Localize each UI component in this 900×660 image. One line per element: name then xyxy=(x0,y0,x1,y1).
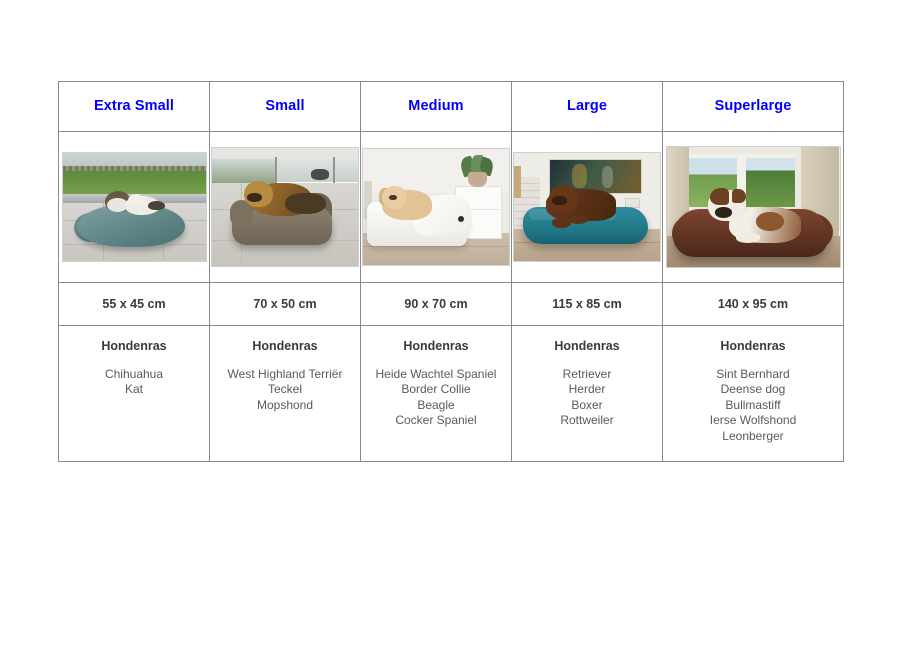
product-photo-small[interactable] xyxy=(211,147,359,267)
breed-item: West Highland Terriër xyxy=(228,367,343,383)
breeds-cell-superlarge: Hondenras Sint BernhardDeense dogBullmas… xyxy=(663,326,844,462)
breed-item: Heide Wachtel Spaniel xyxy=(376,367,497,383)
breeds-list-large: RetrieverHerderBoxerRottweiler xyxy=(560,367,613,429)
dimensions-cell-large: 115 x 85 cm xyxy=(512,283,663,326)
breeds-cell-large: Hondenras RetrieverHerderBoxerRottweiler xyxy=(512,326,663,462)
breeds-title-large: Hondenras xyxy=(554,340,619,353)
dimensions-cell-extra-small: 55 x 45 cm xyxy=(59,283,210,326)
breeds-list-superlarge: Sint BernhardDeense dogBullmastiffIerse … xyxy=(710,367,797,445)
dimensions-large: 115 x 85 cm xyxy=(512,297,662,311)
page: Extra Small Small Medium Large Superlarg… xyxy=(0,0,900,660)
breed-item: Rottweiler xyxy=(560,413,613,429)
breeds-title-extra-small: Hondenras xyxy=(101,340,166,353)
breeds-cell-small: Hondenras West Highland TerriërTeckelMop… xyxy=(210,326,361,462)
photo-wrap-extra-small xyxy=(59,132,209,282)
photo-cell-extra-small[interactable] xyxy=(59,132,210,283)
breed-item: Retriever xyxy=(560,367,613,383)
header-cell-superlarge[interactable]: Superlarge xyxy=(663,82,844,132)
breed-item: Deense dog xyxy=(710,382,797,398)
breed-item: Boxer xyxy=(560,398,613,414)
photo-wrap-small xyxy=(210,132,360,282)
header-cell-medium[interactable]: Medium xyxy=(361,82,512,132)
breed-item: Border Collie xyxy=(376,382,497,398)
breeds-list-extra-small: ChihuahuaKat xyxy=(105,367,163,398)
product-photo-extra-small[interactable] xyxy=(62,152,207,262)
breed-item: Teckel xyxy=(228,382,343,398)
size-name-large: Large xyxy=(512,99,662,114)
breeds-title-small: Hondenras xyxy=(252,340,317,353)
size-name-superlarge: Superlarge xyxy=(663,99,843,114)
product-photo-medium[interactable] xyxy=(362,148,510,266)
photo-cell-small[interactable] xyxy=(210,132,361,283)
dimensions-medium: 90 x 70 cm xyxy=(361,297,511,311)
product-photo-superlarge[interactable] xyxy=(666,146,841,268)
breed-item: Herder xyxy=(560,382,613,398)
breeds-cell-medium: Hondenras Heide Wachtel SpanielBorder Co… xyxy=(361,326,512,462)
breed-item: Mopshond xyxy=(228,398,343,414)
dimensions-cell-superlarge: 140 x 95 cm xyxy=(663,283,844,326)
breed-item: Bullmastiff xyxy=(710,398,797,414)
breed-item: Kat xyxy=(105,382,163,398)
dimensions-cell-small: 70 x 50 cm xyxy=(210,283,361,326)
photo-wrap-medium xyxy=(361,132,511,282)
table-photo-row xyxy=(59,132,844,283)
breed-item: Chihuahua xyxy=(105,367,163,383)
table-breeds-row: Hondenras ChihuahuaKat Hondenras West Hi… xyxy=(59,326,844,462)
photo-wrap-large xyxy=(512,132,662,282)
photo-wrap-superlarge xyxy=(663,132,843,282)
photo-cell-large[interactable] xyxy=(512,132,663,283)
product-photo-large[interactable] xyxy=(513,152,661,262)
breed-item: Ierse Wolfshond xyxy=(710,413,797,429)
breed-item: Leonberger xyxy=(710,429,797,445)
photo-cell-superlarge[interactable] xyxy=(663,132,844,283)
photo-cell-medium[interactable] xyxy=(361,132,512,283)
size-name-extra-small: Extra Small xyxy=(59,99,209,114)
dimensions-small: 70 x 50 cm xyxy=(210,297,360,311)
breed-item: Cocker Spaniel xyxy=(376,413,497,429)
header-cell-small[interactable]: Small xyxy=(210,82,361,132)
breeds-title-superlarge: Hondenras xyxy=(720,340,785,353)
breeds-cell-extra-small: Hondenras ChihuahuaKat xyxy=(59,326,210,462)
size-name-small: Small xyxy=(210,99,360,114)
dimensions-cell-medium: 90 x 70 cm xyxy=(361,283,512,326)
size-name-medium: Medium xyxy=(361,99,511,114)
breeds-list-medium: Heide Wachtel SpanielBorder CollieBeagle… xyxy=(376,367,497,429)
dimensions-extra-small: 55 x 45 cm xyxy=(59,297,209,311)
breeds-title-medium: Hondenras xyxy=(403,340,468,353)
dog-bed-size-table: Extra Small Small Medium Large Superlarg… xyxy=(58,81,844,462)
header-cell-extra-small[interactable]: Extra Small xyxy=(59,82,210,132)
breeds-list-small: West Highland TerriërTeckelMopshond xyxy=(228,367,343,414)
breed-item: Sint Bernhard xyxy=(710,367,797,383)
table-header-row: Extra Small Small Medium Large Superlarg… xyxy=(59,82,844,132)
header-cell-large[interactable]: Large xyxy=(512,82,663,132)
dimensions-superlarge: 140 x 95 cm xyxy=(663,297,843,311)
table-dimensions-row: 55 x 45 cm 70 x 50 cm 90 x 70 cm 115 x 8… xyxy=(59,283,844,326)
breed-item: Beagle xyxy=(376,398,497,414)
